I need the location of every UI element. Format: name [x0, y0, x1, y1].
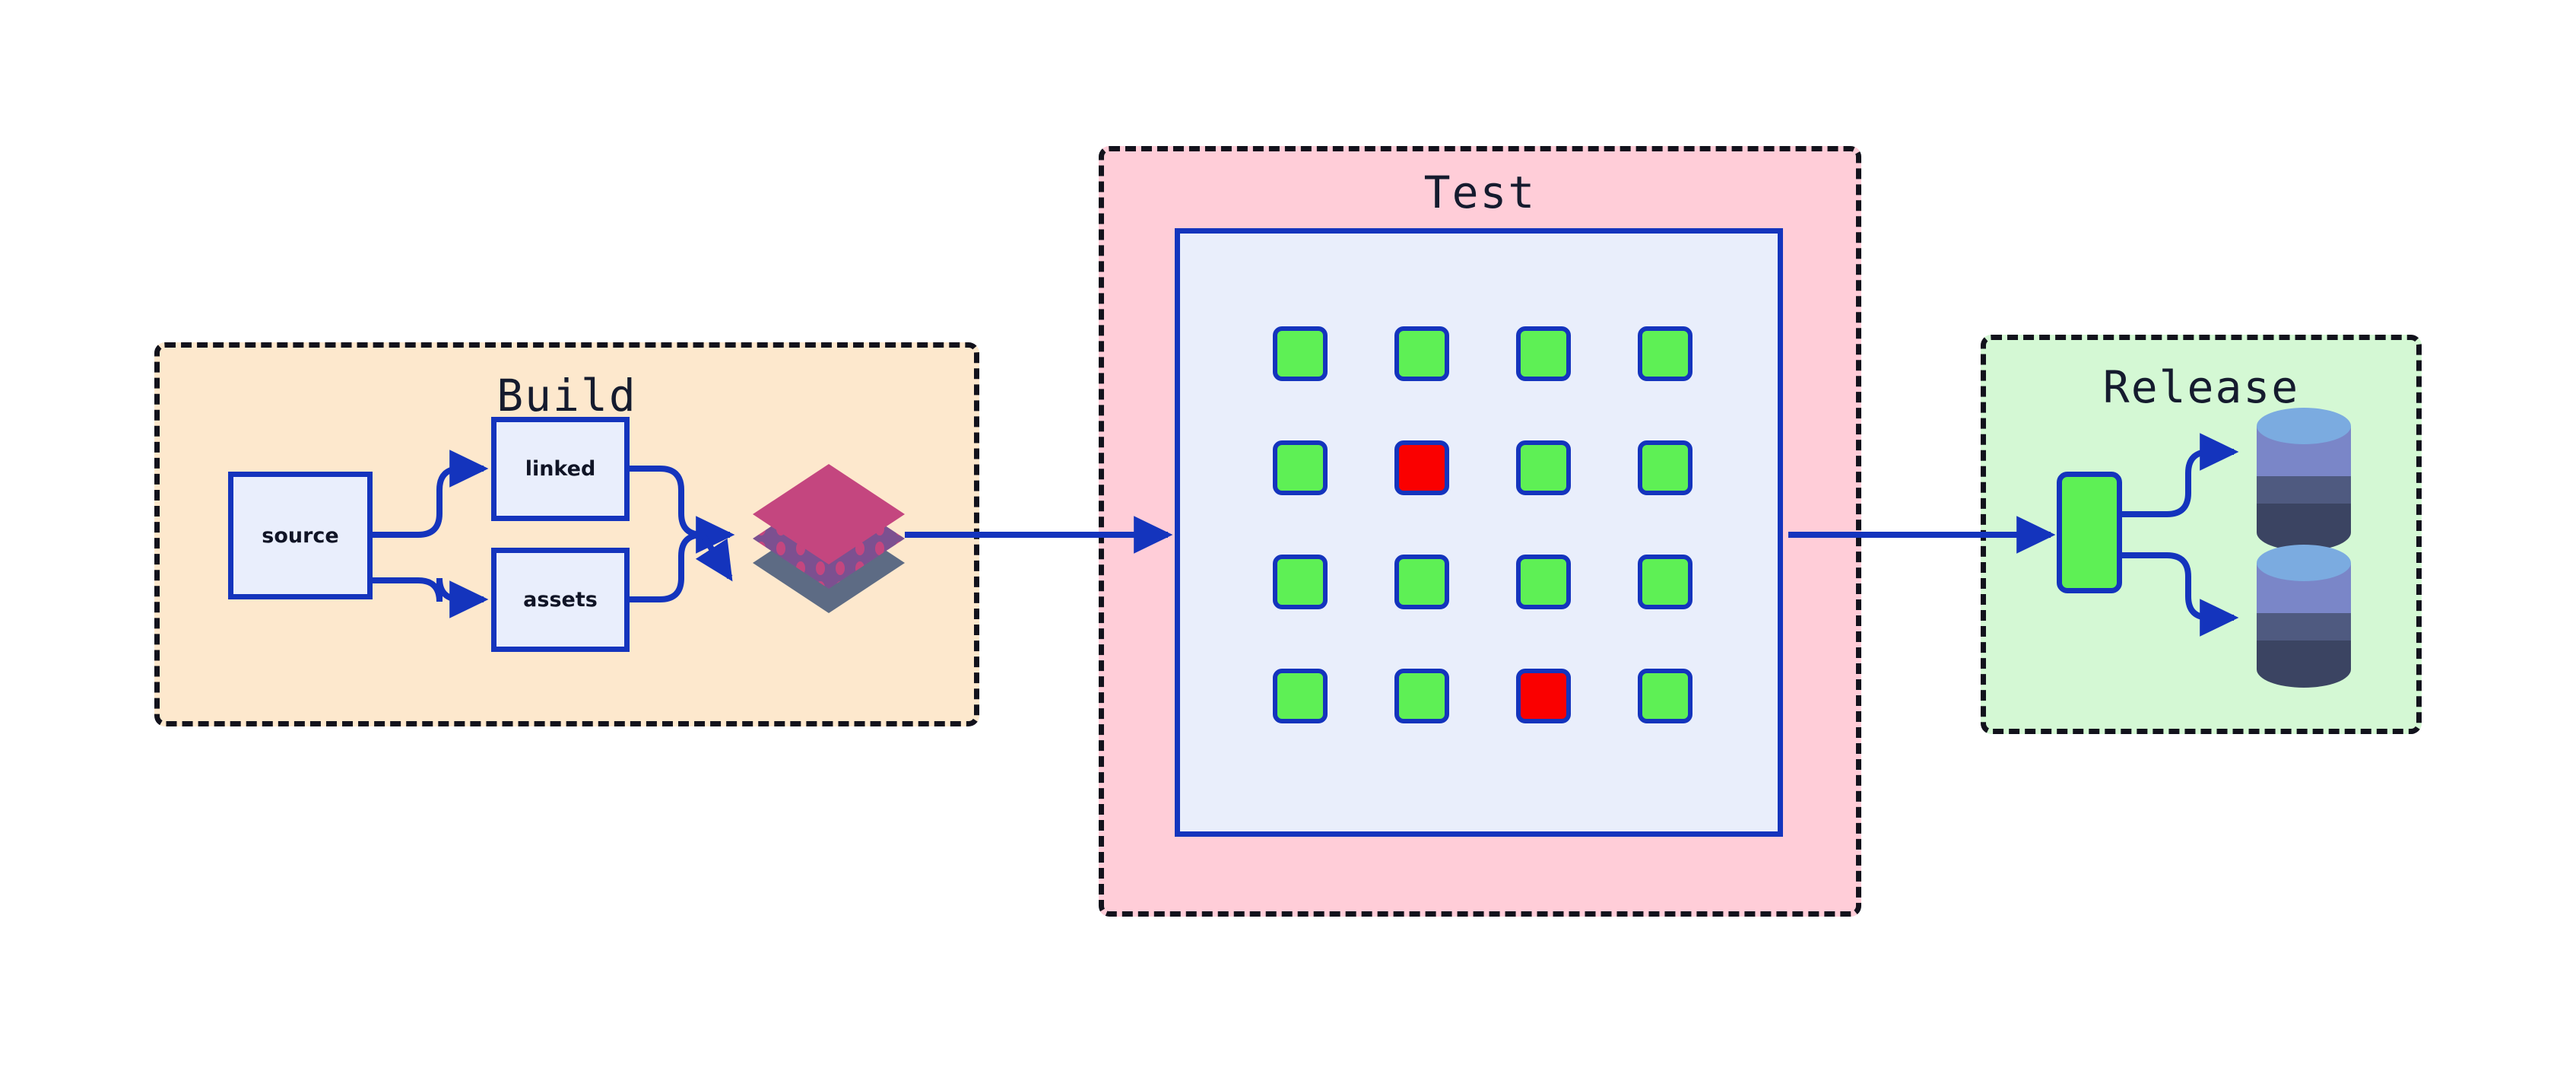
- test-cell-1-2[interactable]: [1394, 326, 1449, 381]
- stage-release: Release: [1981, 335, 2422, 734]
- release-artifact-block[interactable]: [2057, 472, 2122, 593]
- test-cell-2-4[interactable]: [1638, 440, 1692, 495]
- test-results-panel: [1175, 228, 1783, 837]
- stage-build-title: Build: [160, 370, 974, 421]
- node-linked[interactable]: linked: [491, 417, 630, 521]
- test-cell-2-3[interactable]: [1516, 440, 1571, 495]
- test-cell-3-2[interactable]: [1394, 555, 1449, 609]
- test-cell-1-1[interactable]: [1273, 326, 1328, 381]
- node-linked-label: linked: [525, 457, 596, 481]
- stage-release-title: Release: [1986, 361, 2416, 413]
- test-cell-4-3[interactable]: [1516, 669, 1571, 723]
- test-cell-4-4[interactable]: [1638, 669, 1692, 723]
- test-results-grid: [1273, 326, 1692, 723]
- node-source-label: source: [262, 524, 338, 548]
- node-assets-label: assets: [523, 588, 598, 612]
- test-cell-3-4[interactable]: [1638, 555, 1692, 609]
- test-cell-2-2[interactable]: [1394, 440, 1449, 495]
- node-assets[interactable]: assets: [491, 548, 630, 652]
- test-cell-3-1[interactable]: [1273, 555, 1328, 609]
- test-cell-4-1[interactable]: [1273, 669, 1328, 723]
- stage-test-title: Test: [1104, 167, 1856, 218]
- test-cell-1-3[interactable]: [1516, 326, 1571, 381]
- test-cell-1-4[interactable]: [1638, 326, 1692, 381]
- test-cell-2-1[interactable]: [1273, 440, 1328, 495]
- diagram-canvas: Build source linked assets Test Release: [0, 0, 2576, 1068]
- test-cell-3-3[interactable]: [1516, 555, 1571, 609]
- node-source[interactable]: source: [228, 472, 373, 599]
- test-cell-4-2[interactable]: [1394, 669, 1449, 723]
